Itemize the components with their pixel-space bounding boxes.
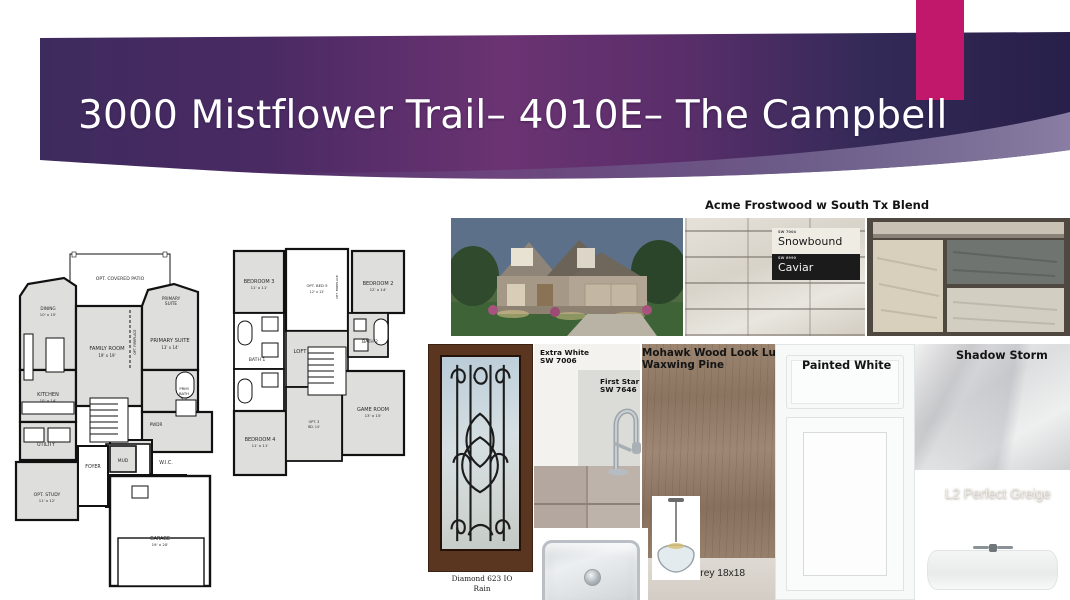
svg-text:19' x 20': 19' x 20' — [152, 542, 169, 547]
svg-text:BATH 1: BATH 1 — [249, 357, 266, 363]
sink-drain — [584, 569, 601, 586]
paint-code: SW 6990 — [778, 256, 796, 260]
masonry-heading: Acme Frostwood w South Tx Blend — [705, 199, 929, 212]
door-glass-insert — [440, 355, 521, 551]
svg-text:10' x 14': 10' x 14' — [40, 398, 57, 403]
cabinet-door-front — [786, 417, 904, 591]
paint-swatch-snowbound: SW 7004 Snowbound — [772, 228, 860, 254]
svg-text:12' x 14': 12' x 14' — [370, 287, 387, 292]
svg-text:13' x 14': 13' x 14' — [161, 345, 178, 350]
svg-text:BATH: BATH — [179, 391, 189, 396]
svg-text:FAMILY ROOM: FAMILY ROOM — [89, 346, 124, 352]
paint-code: SW 7004 — [778, 230, 796, 234]
svg-text:PRIMARY SUITE: PRIMARY SUITE — [150, 338, 189, 344]
stainless-undermount-sink — [534, 528, 648, 600]
vanity-basin — [927, 550, 1058, 590]
svg-text:UTILITY: UTILITY — [37, 442, 55, 448]
svg-text:OPT. FIREPLACE: OPT. FIREPLACE — [133, 329, 137, 354]
pendant-light — [652, 496, 700, 580]
svg-text:OPT. BED 5: OPT. BED 5 — [306, 283, 328, 288]
presentation-slide: 3000 Mistflower Trail– 4010E– The Campbe… — [0, 0, 1070, 600]
svg-text:W.I.C.: W.I.C. — [159, 460, 173, 466]
svg-text:11' x 12': 11' x 12' — [39, 498, 55, 503]
svg-text:FOYER: FOYER — [85, 464, 101, 470]
svg-text:LOFT: LOFT — [294, 349, 308, 355]
svg-text:11' x 11': 11' x 11' — [251, 285, 268, 290]
svg-text:BD. 14': BD. 14' — [308, 425, 320, 429]
svg-text:13' x 15': 13' x 15' — [365, 413, 382, 418]
accent-bar — [916, 0, 964, 100]
cabinet-door-sample — [775, 344, 915, 600]
second-floor-plan: BEDROOM 3 11' x 11' BEDROOM 2 12' x 14' … — [224, 243, 410, 488]
svg-text:12' x 12': 12' x 12' — [310, 290, 325, 294]
front-door — [428, 344, 533, 572]
cabinet-label: Painted White — [802, 360, 891, 373]
svg-text:9' x: 9' x — [181, 397, 187, 401]
carpet-swatch — [915, 470, 1070, 536]
svg-text:OPT. 3: OPT. 3 — [309, 420, 320, 424]
extra-white-label: Extra White SW 7006 — [540, 349, 589, 366]
vanity-sink — [915, 536, 1070, 600]
page-title: 3000 Mistflower Trail– 4010E– The Campbe… — [78, 93, 948, 138]
svg-text:SUITE: SUITE — [165, 301, 178, 306]
svg-text:DINING: DINING — [40, 306, 55, 311]
svg-text:OPT. FIREPLACE: OPT. FIREPLACE — [335, 275, 339, 299]
svg-text:11' x 11': 11' x 11' — [252, 443, 269, 448]
first-floor-plan: OPT. COVERED PATIO PRIMARY SUITE PRIMARY… — [6, 250, 228, 595]
stone-swatch — [867, 218, 1070, 336]
vanity-faucet — [971, 542, 1015, 553]
paint-swatch-caviar: SW 6990 Caviar — [772, 254, 860, 280]
svg-text:19' x 19': 19' x 19' — [98, 353, 115, 358]
front-door-label: Diamond 623 IO Rain — [434, 574, 530, 594]
paint-swatch-card: SW 7004 Snowbound SW 6990 Caviar — [772, 228, 860, 280]
cabinet-door-panel — [803, 432, 887, 576]
tile-grout-line — [534, 503, 640, 505]
svg-text:OPT. COVERED PATIO: OPT. COVERED PATIO — [96, 276, 145, 282]
svg-text:10' x 15': 10' x 15' — [40, 312, 56, 317]
paint-name: Caviar — [778, 261, 813, 274]
svg-text:MUD: MUD — [118, 458, 129, 464]
countertop-label: Shadow Storm — [956, 350, 1048, 363]
countertop-swatch — [915, 344, 1070, 470]
exterior-elevation-render — [451, 218, 683, 336]
svg-text:PWDR: PWDR — [150, 422, 163, 427]
carpet-label: L2 Perfect Greige — [945, 486, 1051, 501]
kitchen-faucet — [602, 392, 646, 476]
paint-name: Snowbound — [778, 235, 842, 248]
title-banner: 3000 Mistflower Trail– 4010E– The Campbe… — [0, 0, 1070, 185]
material-selection-board: Acme Frostwood w South Tx Blend — [420, 196, 1070, 600]
svg-text:BATH 2: BATH 2 — [362, 339, 378, 345]
